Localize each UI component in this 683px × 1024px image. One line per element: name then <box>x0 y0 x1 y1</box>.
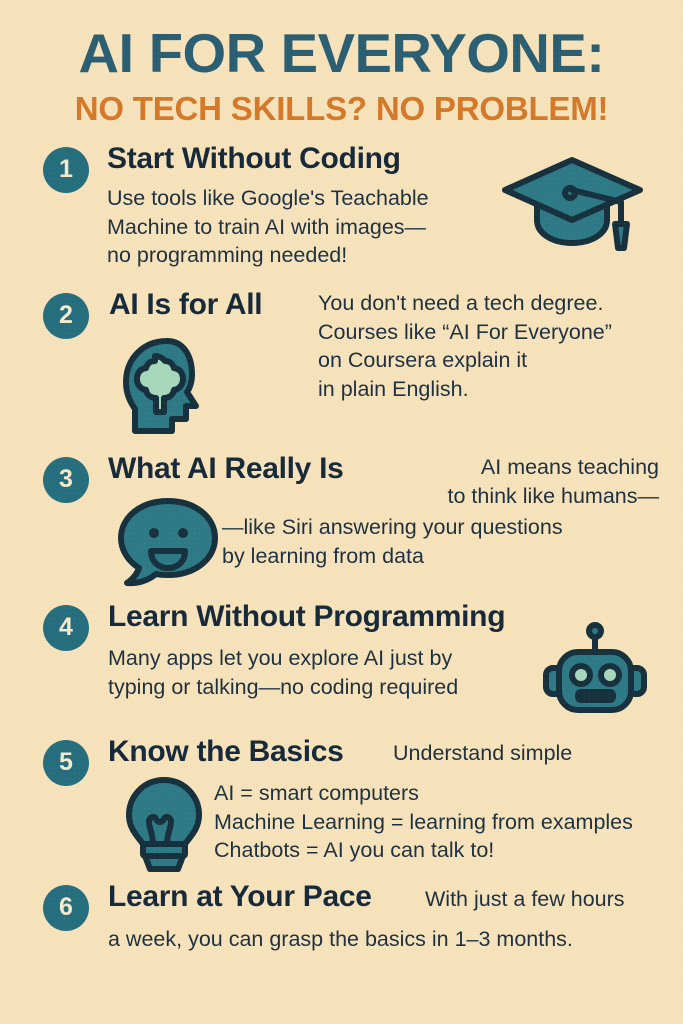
body-line: Chatbots = AI you can talk to! <box>214 838 494 862</box>
body-line: on Coursera explain it <box>318 348 527 372</box>
robot-head-icon <box>540 622 650 722</box>
body-line: Machine to train AI with images— <box>107 215 426 239</box>
page-subtitle: No Tech Skills? No Problem! <box>10 90 673 128</box>
page-title: AI for Everyone: <box>3 26 679 81</box>
body-line: by learning from data <box>222 544 424 568</box>
section-body-5: AI = smart computers Machine Learning = … <box>214 779 633 865</box>
body-line: no programming needed! <box>107 243 347 267</box>
section-start-without-coding: 1 Start Without Coding Use tools like Go… <box>0 132 683 287</box>
lightbulb-icon <box>118 775 210 880</box>
section-body-4: Many apps let you explore AI just by typ… <box>108 644 458 701</box>
poster-header: AI for Everyone: No Tech Skills? No Prob… <box>0 0 683 132</box>
section-body-3-right: AI means teaching to think like humans— <box>447 453 659 510</box>
step-badge-2: 2 <box>43 293 89 339</box>
section-heading-5: Know the Basics <box>108 736 344 768</box>
body-line: AI = smart computers <box>214 781 419 805</box>
head-brain-icon <box>117 335 222 445</box>
body-line: AI means teaching <box>481 455 659 479</box>
section-heading-6: Learn at Your Pace <box>108 881 372 913</box>
section-heading-1: Start Without Coding <box>107 143 401 175</box>
section-body-6-lead: With just a few hours <box>425 885 625 914</box>
body-line: Machine Learning = learning from example… <box>214 810 633 834</box>
speech-bubble-smile-icon <box>113 495 225 595</box>
section-heading-3: What AI Really Is <box>108 453 344 485</box>
step-badge-5: 5 <box>43 740 89 786</box>
step-badge-4: 4 <box>43 605 89 651</box>
section-body-6: a week, you can grasp the basics in 1–3 … <box>108 925 573 954</box>
body-line: to think like humans— <box>447 484 659 508</box>
body-line: Many apps let you explore AI just by <box>108 646 452 670</box>
section-body-1: Use tools like Google's Teachable Machin… <box>107 184 429 270</box>
body-line: Use tools like Google's Teachable <box>107 186 429 210</box>
section-heading-2: AI Is for All <box>109 289 262 321</box>
section-what-ai-really-is: 3 What AI Really Is AI means teaching to… <box>0 447 683 592</box>
body-line: Courses like “AI For Everyone” <box>318 320 612 344</box>
step-badge-1: 1 <box>43 147 89 193</box>
step-badge-6: 6 <box>43 885 89 931</box>
section-heading-4: Learn Without Programming <box>108 601 505 633</box>
body-line: You don't need a tech degree. <box>318 291 603 315</box>
section-ai-is-for-all: 2 AI Is for All You don't need a tech de… <box>0 287 683 447</box>
section-learn-without-programming: 4 Learn Without Programming Many apps le… <box>0 592 683 727</box>
section-learn-at-your-pace: 6 Learn at Your Pace With just a few hou… <box>0 875 683 975</box>
body-line: —like Siri answering your questions <box>222 515 563 539</box>
infographic-poster: AI for Everyone: No Tech Skills? No Prob… <box>0 0 683 1024</box>
section-body-3-below: —like Siri answering your questions by l… <box>222 513 563 570</box>
graduation-cap-icon <box>500 150 655 260</box>
body-line: in plain English. <box>318 377 469 401</box>
section-body-2: You don't need a tech degree. Courses li… <box>318 289 612 403</box>
section-body-5-lead: Understand simple <box>393 739 572 768</box>
section-know-the-basics: 5 Know the Basics Understand simple AI =… <box>0 727 683 875</box>
body-line: typing or talking—no coding required <box>108 675 458 699</box>
step-badge-3: 3 <box>43 457 89 503</box>
